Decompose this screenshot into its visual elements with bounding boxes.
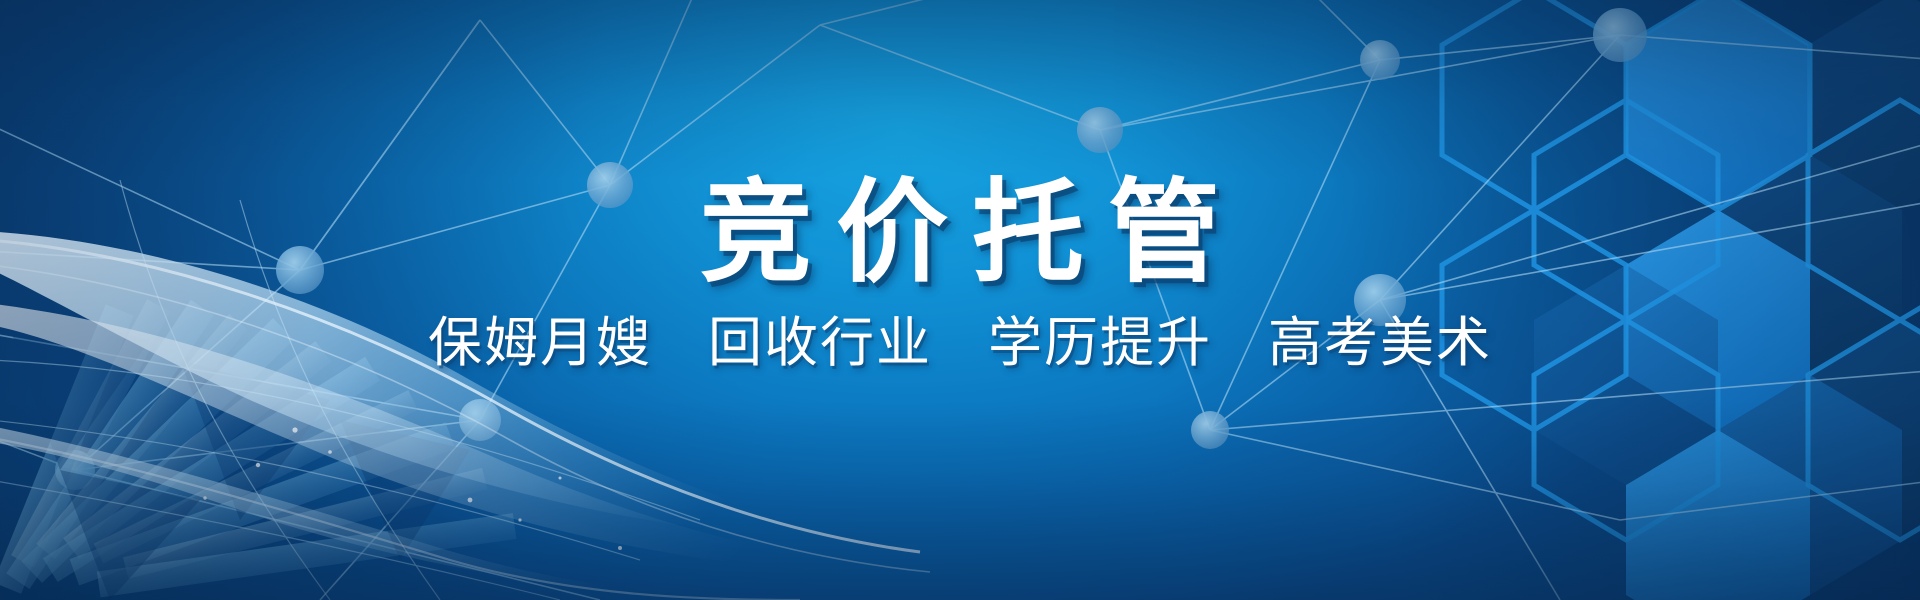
banner-subtitle: 保姆月嫂 回收行业 学历提升 高考美术	[428, 290, 1492, 373]
banner-text-block: 竞价托管 保姆月嫂 回收行业 学历提升 高考美术	[0, 0, 1920, 600]
banner-title: 竞价托管	[676, 176, 1244, 290]
promo-banner: 竞价托管 保姆月嫂 回收行业 学历提升 高考美术	[0, 0, 1920, 600]
